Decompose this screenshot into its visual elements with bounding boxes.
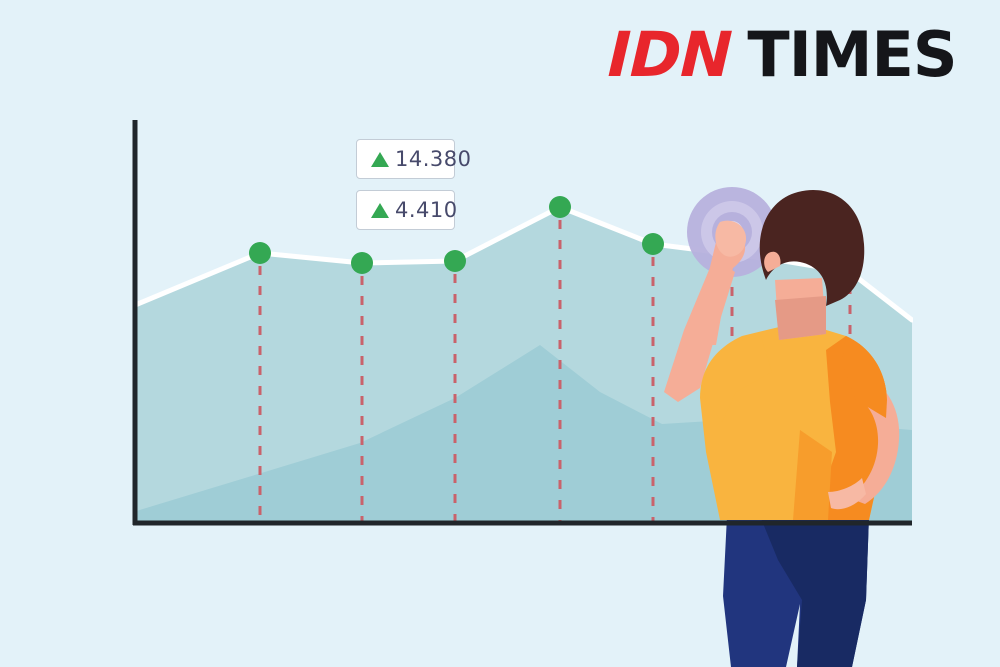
tooltip-value-card[interactable]: 4.410: [356, 190, 455, 230]
area-chart: [0, 0, 1000, 667]
tooltip-value: 4.410: [395, 198, 458, 222]
brand-logo: IDN TIMES: [608, 24, 957, 86]
data-point: [249, 242, 271, 264]
triangle-up-icon: [371, 203, 389, 218]
triangle-up-icon: [371, 152, 389, 167]
data-point: [444, 250, 466, 272]
person-neck-shadow: [775, 296, 826, 340]
data-point: [351, 252, 373, 274]
screenshot-canvas: IDN TIMES 14.380 4.410: [0, 0, 1000, 667]
data-point: [549, 196, 571, 218]
tooltip-value-card[interactable]: 14.380: [356, 139, 455, 179]
brand-times-text: TIMES: [747, 24, 956, 86]
brand-idn-text: IDN: [607, 24, 733, 86]
tooltip-value: 14.380: [395, 147, 471, 171]
data-point: [642, 233, 664, 255]
